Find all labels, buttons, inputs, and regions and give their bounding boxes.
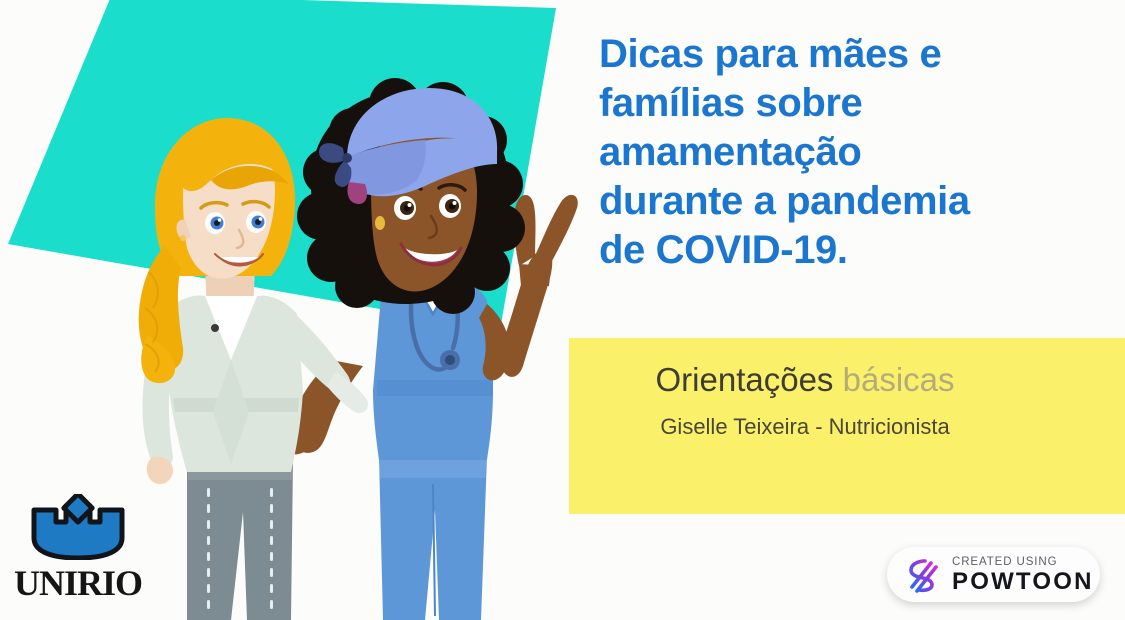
unirio-wordmark: UNIRIO bbox=[8, 562, 148, 604]
unirio-emblem-icon bbox=[30, 494, 126, 560]
powtoon-logo-mark-icon bbox=[901, 556, 943, 594]
powtoon-text-group: CREATED USING POWTOON bbox=[952, 556, 1094, 594]
caption-subtitle-light: básicas bbox=[843, 361, 955, 398]
slide-canvas: Dicas para mães e famílias sobre amament… bbox=[0, 0, 1125, 620]
powtoon-badge[interactable]: CREATED USING POWTOON bbox=[887, 547, 1100, 602]
unirio-logo: UNIRIO bbox=[8, 494, 148, 612]
title-line-5: de COVID-19. bbox=[599, 226, 1119, 275]
title-line-1: Dicas para mães e bbox=[599, 30, 1119, 79]
caption-subtitle-strong: Orientações bbox=[656, 361, 834, 398]
title-line-3: amamentação bbox=[599, 128, 1119, 177]
caption-box: Orientações básicas Giselle Teixeira - N… bbox=[569, 338, 1125, 514]
title-line-2: famílias sobre bbox=[599, 79, 1119, 128]
caption-subtitle: Orientações básicas bbox=[569, 360, 1041, 400]
powtoon-brand-name: POWTOON bbox=[952, 569, 1094, 594]
slide-title: Dicas para mães e famílias sobre amament… bbox=[599, 30, 1119, 275]
caption-author: Giselle Teixeira - Nutricionista bbox=[569, 414, 1041, 440]
characters-illustration bbox=[95, 60, 615, 620]
title-line-4: durante a pandemia bbox=[599, 177, 1119, 226]
powtoon-created-label: CREATED USING bbox=[952, 556, 1094, 569]
